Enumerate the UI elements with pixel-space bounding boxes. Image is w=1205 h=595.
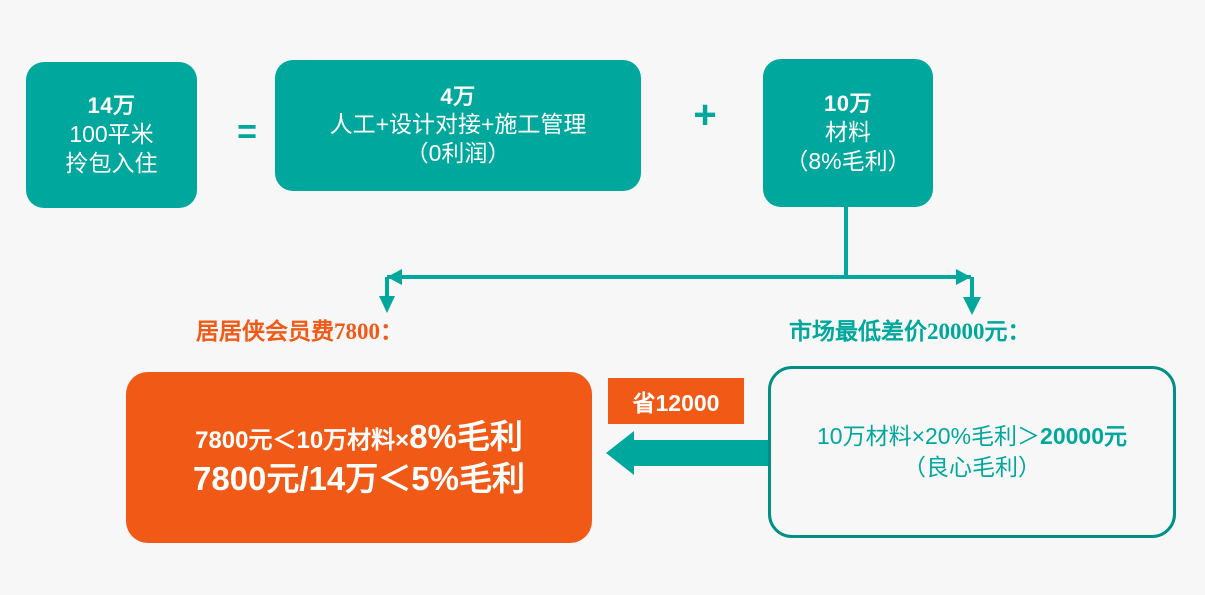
- total-cost-line2: 100平米: [69, 120, 153, 149]
- total-cost-line3: 拎包入住: [66, 149, 158, 178]
- diagram-canvas: 14万 100平米 拎包入住 = 4万 人工+设计对接+施工管理 （0利润） +…: [0, 0, 1205, 595]
- market-price-box: 10万材料×20%毛利＞20000元 （良心毛利）: [768, 366, 1176, 538]
- savings-badge: 省12000: [608, 378, 744, 424]
- total-cost-headline: 14万: [88, 92, 136, 120]
- market-diff-caption: 市场最低差价20000元：: [789, 320, 1031, 343]
- member-result-line1-suffix: 8%毛利: [409, 418, 523, 455]
- member-result-line1-prefix: 7800元＜10万材料×: [195, 427, 409, 454]
- market-price-line2: （良心毛利）: [903, 452, 1041, 483]
- material-cost-box: 10万 材料 （8%毛利）: [763, 59, 933, 207]
- equals-operator-icon: =: [232, 115, 262, 149]
- material-cost-line3: （8%毛利）: [785, 147, 910, 176]
- material-cost-headline: 10万: [824, 90, 872, 118]
- labor-cost-line2: 人工+设计对接+施工管理: [330, 110, 587, 139]
- member-result-box: 7800元＜10万材料×8%毛利 7800元/14万＜5%毛利: [126, 372, 592, 543]
- market-price-line1: 10万材料×20%毛利＞20000元: [817, 421, 1127, 452]
- market-price-line1-prefix: 10万材料×20%毛利＞: [817, 423, 1040, 449]
- savings-left-arrow-icon: [604, 430, 774, 476]
- labor-cost-headline: 4万: [440, 83, 475, 111]
- total-cost-box: 14万 100平米 拎包入住: [26, 62, 197, 208]
- member-result-line2: 7800元/14万＜5%毛利: [193, 459, 525, 499]
- labor-cost-box: 4万 人工+设计对接+施工管理 （0利润）: [275, 60, 641, 191]
- market-price-line1-bold: 20000元: [1040, 423, 1127, 449]
- material-cost-line2: 材料: [825, 118, 871, 147]
- plus-operator-icon: +: [688, 95, 722, 135]
- labor-cost-line3: （0利润）: [406, 139, 511, 168]
- member-fee-caption: 居居侠会员费7800：: [196, 320, 403, 343]
- member-result-line1: 7800元＜10万材料×8%毛利: [195, 417, 523, 457]
